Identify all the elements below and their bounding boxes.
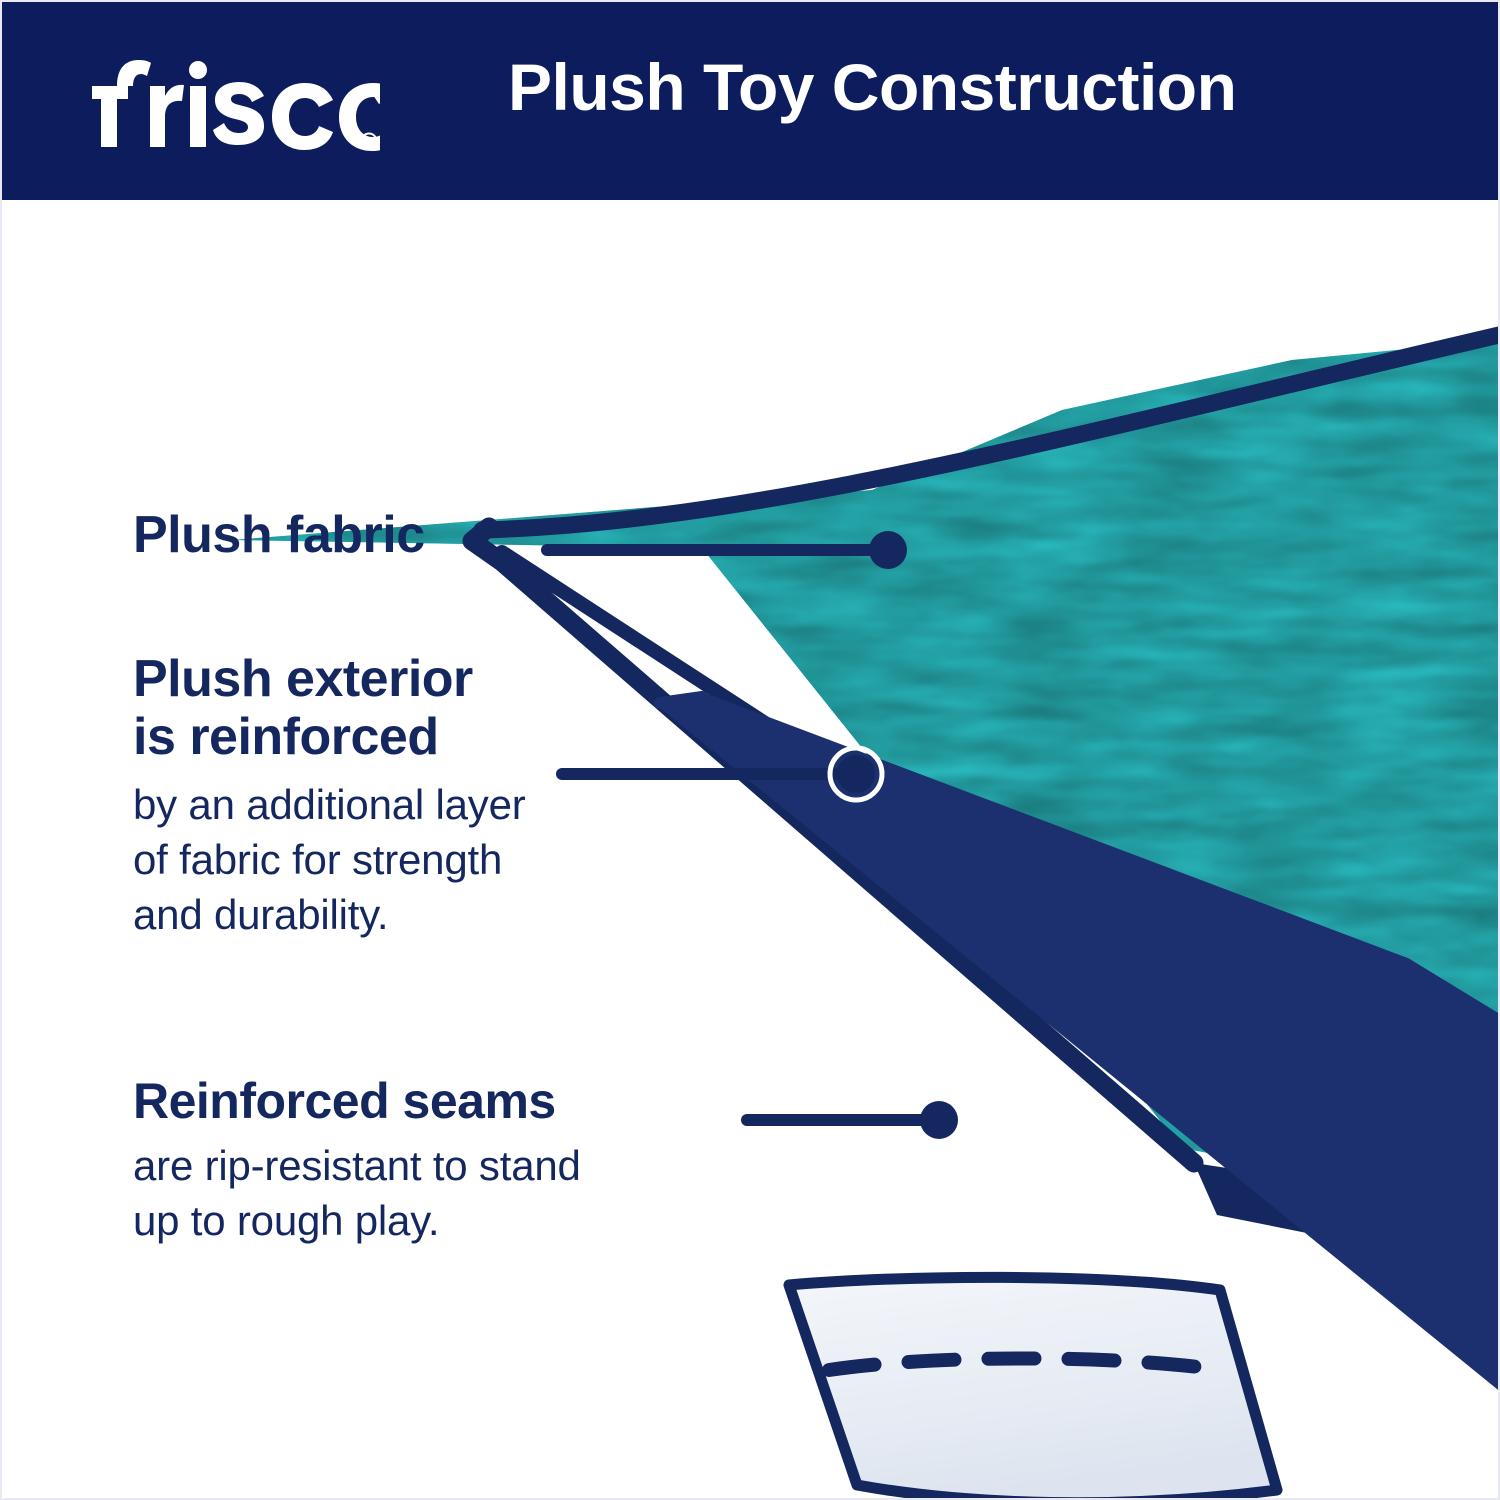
callout-reinforced-seams-body: are rip-resistant to stand up to rough p… — [133, 1139, 581, 1248]
svg-text:R: R — [366, 137, 373, 148]
heading-line: is reinforced — [133, 708, 526, 766]
callout-reinforced-seams-heading: Reinforced seams — [133, 1074, 581, 1129]
body-line: and durability. — [133, 888, 526, 943]
body-line: are rip-resistant to stand — [133, 1139, 581, 1194]
reinforced-seam-flap — [789, 1277, 1277, 1500]
callout-reinforced-seams: Reinforced seams are rip-resistant to st… — [133, 1074, 581, 1248]
page-title: Plush Toy Construction — [508, 54, 1408, 120]
heading-line: Plush exterior — [133, 650, 526, 708]
infographic-page: R Plush Toy Construction — [0, 0, 1500, 1500]
header-bar: R Plush Toy Construction — [2, 2, 1500, 200]
callout-plush-exterior: Plush exterior is reinforced by an addit… — [133, 650, 526, 942]
body-line: up to rough play. — [133, 1194, 581, 1249]
frisco-logo: R — [80, 42, 380, 152]
callout-plush-fabric: Plush fabric — [133, 507, 425, 563]
body-line: by an additional layer — [133, 778, 526, 833]
leader-line-reinforced-seams — [747, 1101, 958, 1139]
callout-plush-exterior-heading: Plush exterior is reinforced — [133, 650, 526, 766]
callout-plush-exterior-body: by an additional layer of fabric for str… — [133, 778, 526, 942]
callout-plush-fabric-heading: Plush fabric — [133, 507, 425, 563]
body-line: of fabric for strength — [133, 833, 526, 888]
